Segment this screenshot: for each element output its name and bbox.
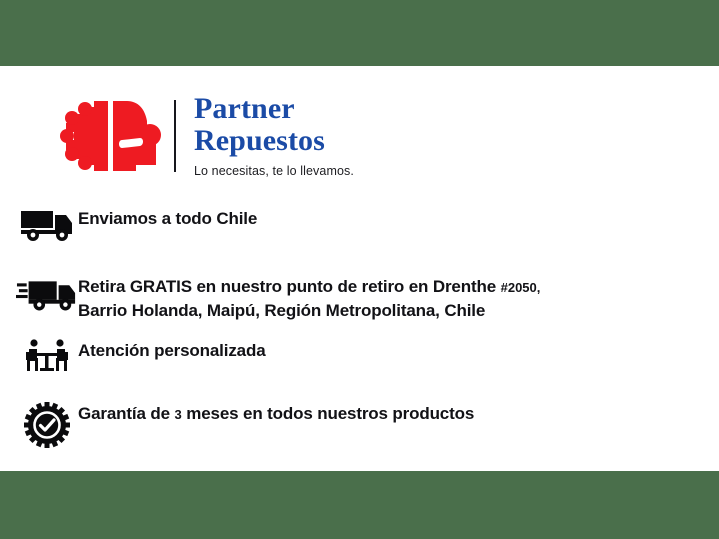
promo-banner: Partner Repuestos Lo necesitas, te lo ll…	[0, 0, 719, 539]
feature-service-label: Atención personalizada	[78, 336, 266, 362]
brand-logo: Partner Repuestos Lo necesitas, te lo ll…	[58, 93, 354, 178]
logo-divider	[174, 100, 176, 172]
feature-warranty-label: Garantía de 3 meses en todos nuestros pr…	[78, 399, 474, 426]
meeting-table-icon	[16, 336, 78, 376]
top-green-band	[0, 0, 719, 66]
moving-truck-icon	[16, 272, 78, 312]
feature-warranty: Garantía de 3 meses en todos nuestros pr…	[0, 399, 719, 449]
feature-pickup-label: Retira GRATIS en nuestro punto de retiro…	[78, 272, 540, 322]
feature-warranty-suffix: meses en todos nuestros productos	[182, 404, 474, 423]
content-area: Partner Repuestos Lo necesitas, te lo ll…	[0, 66, 719, 471]
feature-list: Enviamos a todo Chile	[0, 204, 719, 449]
feature-shipping: Enviamos a todo Chile	[0, 204, 719, 250]
feature-pickup-line1: Retira GRATIS en nuestro punto de retiro…	[78, 277, 501, 296]
feature-pickup-line2: Barrio Holanda, Maipú, Región Metropolit…	[78, 301, 485, 320]
feature-pickup: Retira GRATIS en nuestro punto de retiro…	[0, 272, 719, 322]
gear-car-split-icon	[58, 95, 166, 177]
feature-warranty-months: 3	[174, 407, 181, 422]
brand-name-line-2: Repuestos	[194, 125, 354, 157]
feature-shipping-label: Enviamos a todo Chile	[78, 204, 257, 230]
bottom-green-band	[0, 471, 719, 539]
delivery-truck-icon	[16, 204, 78, 241]
brand-wordmark: Partner Repuestos Lo necesitas, te lo ll…	[194, 93, 354, 178]
guarantee-seal-check-icon	[16, 399, 78, 449]
feature-service: Atención personalizada	[0, 336, 719, 382]
brand-name-line-1: Partner	[194, 93, 354, 125]
feature-pickup-address-number: #2050,	[501, 280, 541, 295]
feature-warranty-prefix: Garantía de	[78, 404, 174, 423]
brand-tagline: Lo necesitas, te lo llevamos.	[194, 164, 354, 178]
